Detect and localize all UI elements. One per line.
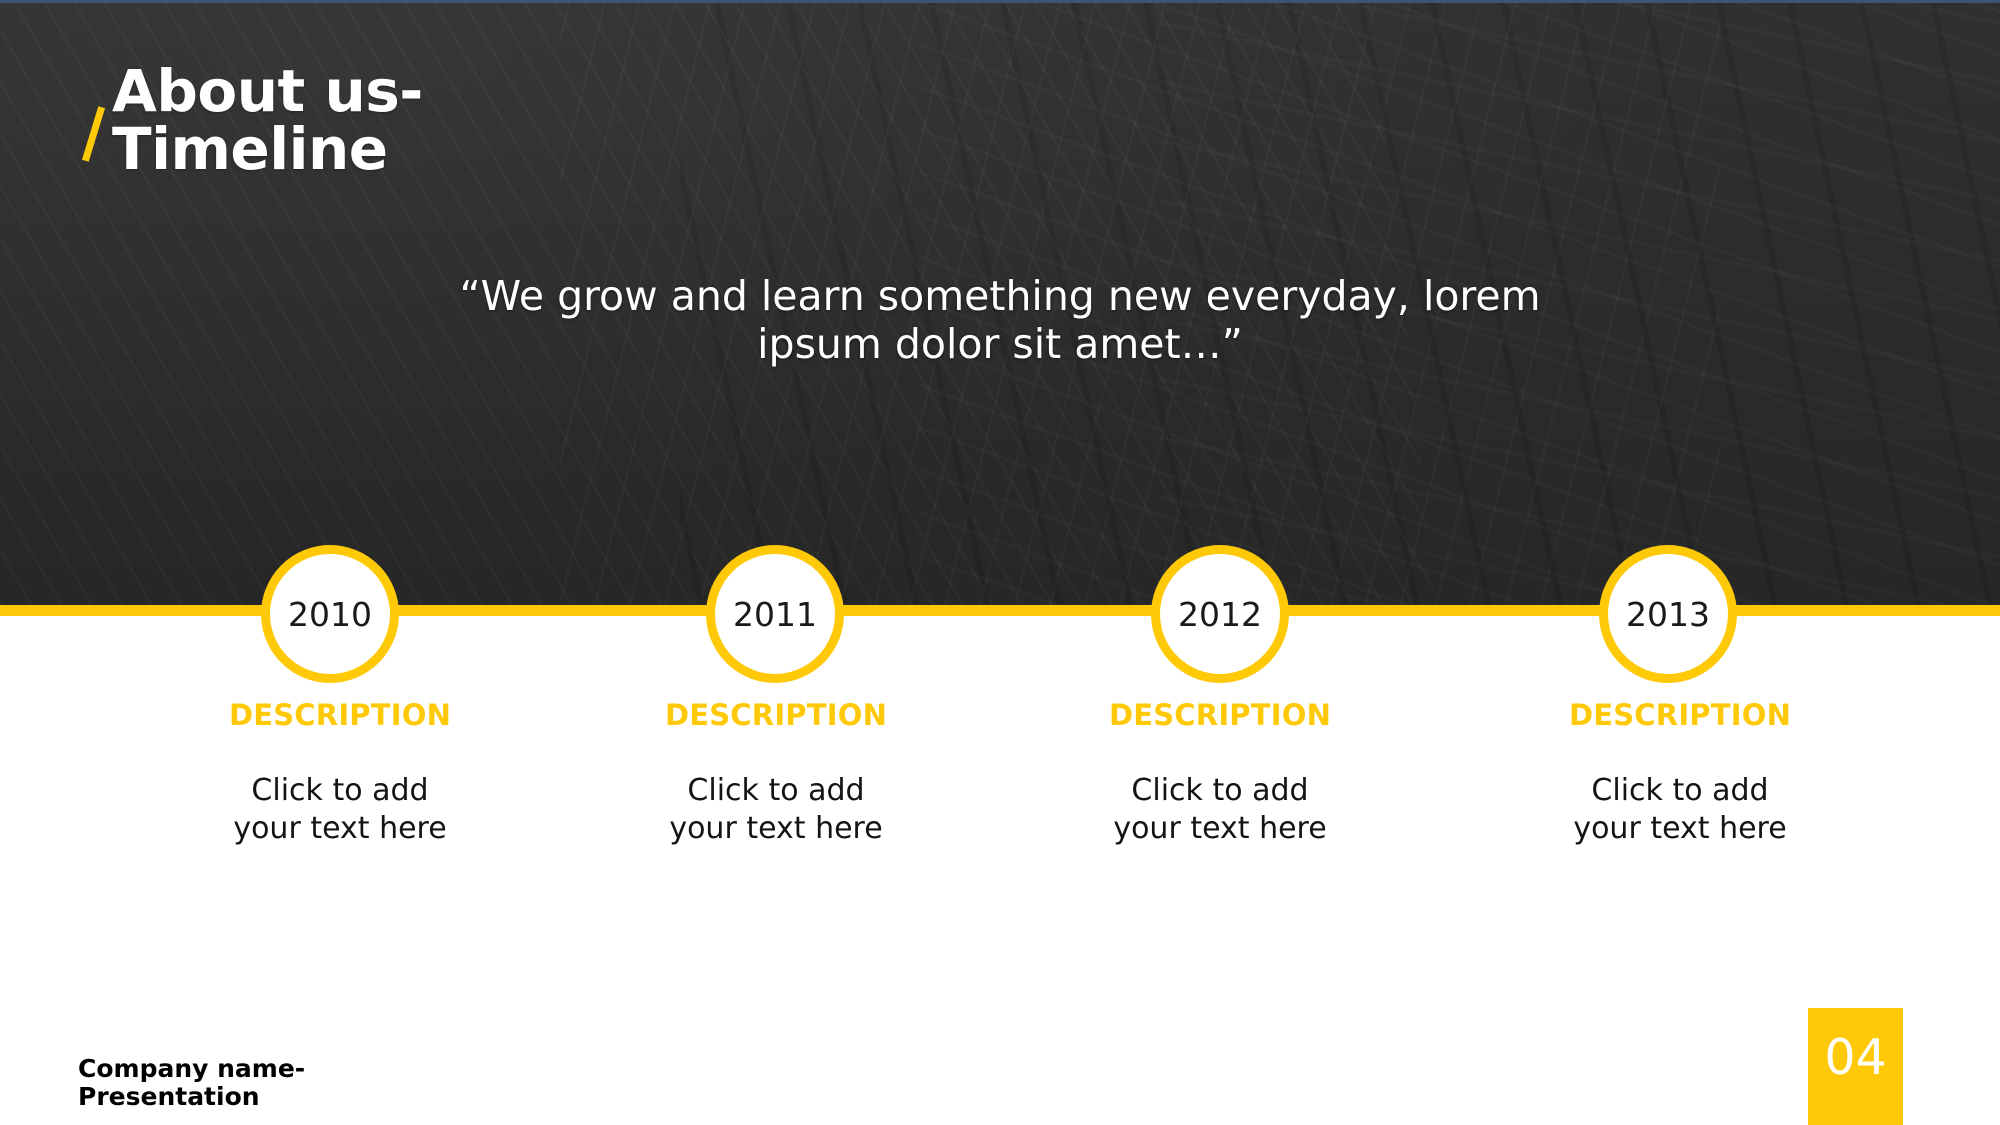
page-title: About us- Timeline — [112, 62, 423, 178]
page-number: 04 — [1824, 1033, 1886, 1082]
timeline-node-year: 2011 — [733, 598, 817, 631]
timeline-description-column-2010: DESCRIPTION Click to add your text here — [190, 700, 490, 847]
footer-company-name: Company name- Presentation — [78, 1055, 498, 1111]
timeline-node-2011[interactable]: 2011 — [706, 545, 844, 683]
timeline-node-2012[interactable]: 2012 — [1151, 545, 1289, 683]
description-placeholder-text[interactable]: Click to add your text here — [1070, 772, 1370, 848]
timeline-node-2010[interactable]: 2010 — [261, 545, 399, 683]
description-placeholder-text[interactable]: Click to add your text here — [626, 772, 926, 848]
description-placeholder-text[interactable]: Click to add your text here — [190, 772, 490, 848]
description-heading: DESCRIPTION — [626, 700, 926, 732]
page-number-badge: 04 — [1808, 1008, 1903, 1125]
description-heading: DESCRIPTION — [190, 700, 490, 732]
description-placeholder-text[interactable]: Click to add your text here — [1530, 772, 1830, 848]
timeline-description-column-2011: DESCRIPTION Click to add your text here — [626, 700, 926, 847]
slide-top-border — [0, 0, 2000, 3]
timeline-node-year: 2012 — [1178, 598, 1262, 631]
timeline-node-year: 2010 — [288, 598, 372, 631]
timeline-description-column-2013: DESCRIPTION Click to add your text here — [1530, 700, 1830, 847]
title-block: About us- Timeline — [112, 62, 423, 178]
description-heading: DESCRIPTION — [1070, 700, 1370, 732]
description-heading: DESCRIPTION — [1530, 700, 1830, 732]
timeline-node-2013[interactable]: 2013 — [1599, 545, 1737, 683]
timeline-description-column-2012: DESCRIPTION Click to add your text here — [1070, 700, 1370, 847]
timeline-node-year: 2013 — [1626, 598, 1710, 631]
quote-text: “We grow and learn something new everyda… — [420, 272, 1580, 369]
slide-canvas: About us- Timeline “We grow and learn so… — [0, 0, 2000, 1125]
